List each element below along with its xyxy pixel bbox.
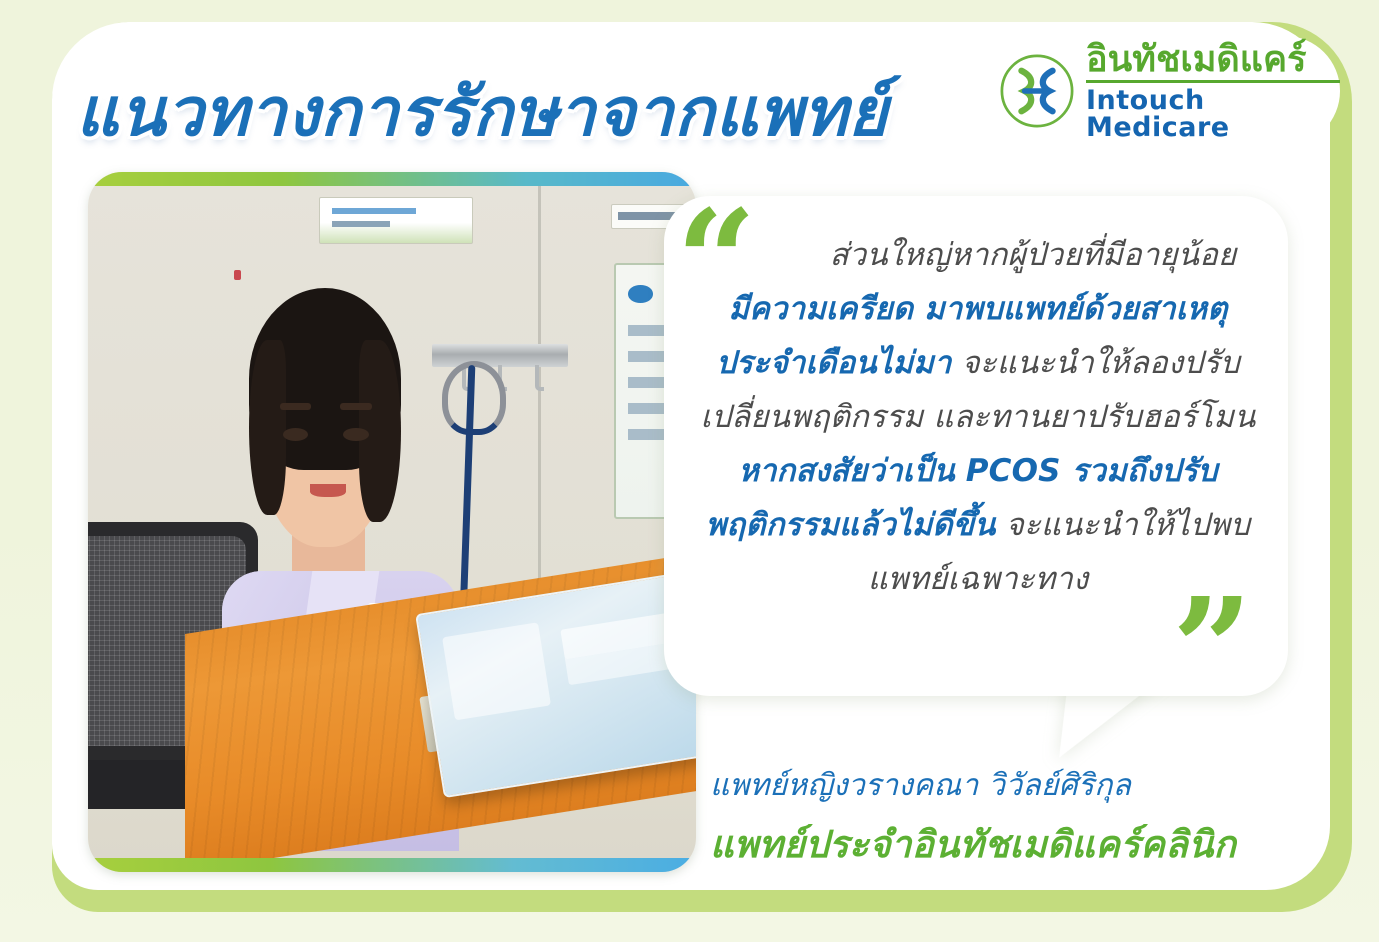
- doctor-role: แพทย์ประจำอินทัชเมดิแคร์คลินิก: [710, 815, 1236, 874]
- quote-line: ประจำเดือนไม่มา จะแนะนำให้ลองปรับ: [676, 336, 1280, 390]
- doctor-eye: [283, 428, 309, 441]
- doctor-mouth: [310, 484, 346, 497]
- quote-line: พฤติกรรมแล้วไม่ดีขึ้น จะแนะนำให้ไปพบ: [676, 498, 1280, 552]
- photo-accent-bar-top: [88, 172, 696, 186]
- doctor-photo: [88, 172, 696, 872]
- wall-hook-rail: [432, 344, 569, 368]
- quote-segment-highlight: พฤติกรรมแล้วไม่ดีขึ้น: [706, 507, 996, 543]
- quote-line: หากสงสัยว่าเป็น PCOS รวมถึงปรับ: [676, 444, 1280, 498]
- wall-sign-large: [319, 197, 473, 245]
- quote-segment-highlight: ประจำเดือนไม่มา: [716, 345, 951, 381]
- office-chair-armrest: [88, 760, 197, 809]
- intouch-medicare-logo-mark-icon: [998, 52, 1076, 130]
- quote-segment: จะแนะนำให้ลองปรับ: [951, 345, 1239, 381]
- quote-segment-highlight: มีความเครียด มาพบแพทย์ด้วยสาเหตุ: [728, 291, 1227, 327]
- quote-text: ส่วนใหญ่หากผู้ป่วยที่มีอายุน้อยมีความเคร…: [676, 228, 1280, 606]
- page-title: แนวทางการรักษาจากแพทย์: [76, 58, 956, 154]
- quote-segment: เปลี่ยนพฤติกรรม และทานยาปรับฮอร์โมน: [700, 399, 1255, 435]
- brand-name-thai: อินทัชเมดิแคร์: [1086, 42, 1340, 83]
- wall-marker: [234, 270, 241, 280]
- photo-accent-bar-bottom: [88, 858, 696, 872]
- quote-line: เปลี่ยนพฤติกรรม และทานยาปรับฮอร์โมน: [676, 390, 1280, 444]
- quote-line: ส่วนใหญ่หากผู้ป่วยที่มีอายุน้อย: [676, 228, 1280, 282]
- doctor-name: แพทย์หญิงวรางคณา วิวัลย์ศิริกุล: [710, 762, 1236, 809]
- quote-line: แพทย์เฉพาะทาง: [676, 552, 1280, 606]
- doctor-hair-left: [249, 340, 285, 515]
- quote-segment: ส่วนใหญ่หากผู้ป่วยที่มีอายุน้อย: [830, 237, 1237, 273]
- attribution: แพทย์หญิงวรางคณา วิวัลย์ศิริกุล แพทย์ประ…: [710, 762, 1236, 874]
- doctor-eye: [343, 428, 369, 441]
- poster-root: แนวทางการรักษาจากแพทย์ อินทัชเมดิแคร์ In…: [0, 0, 1379, 942]
- quote-segment-highlight: หากสงสัยว่าเป็น PCOS รวมถึงปรับ: [738, 453, 1217, 489]
- brand-logo: อินทัชเมดิแคร์ Intouch Medicare: [984, 36, 1340, 146]
- page-title-text: แนวทางการรักษาจากแพทย์: [76, 58, 956, 165]
- brand-name-english: Intouch Medicare: [1086, 87, 1340, 141]
- brand-logo-text: อินทัชเมดิแคร์ Intouch Medicare: [1086, 42, 1340, 141]
- quote-segment: จะแนะนำให้ไปพบ: [996, 507, 1251, 543]
- wall-hook: [535, 365, 544, 391]
- quote-line: มีความเครียด มาพบแพทย์ด้วยสาเหตุ: [676, 282, 1280, 336]
- doctor-eyebrow: [340, 403, 372, 410]
- quote-close-icon: ”: [1172, 594, 1253, 706]
- quote-segment: แพทย์เฉพาะทาง: [868, 561, 1089, 597]
- doctor-eyebrow: [280, 403, 312, 410]
